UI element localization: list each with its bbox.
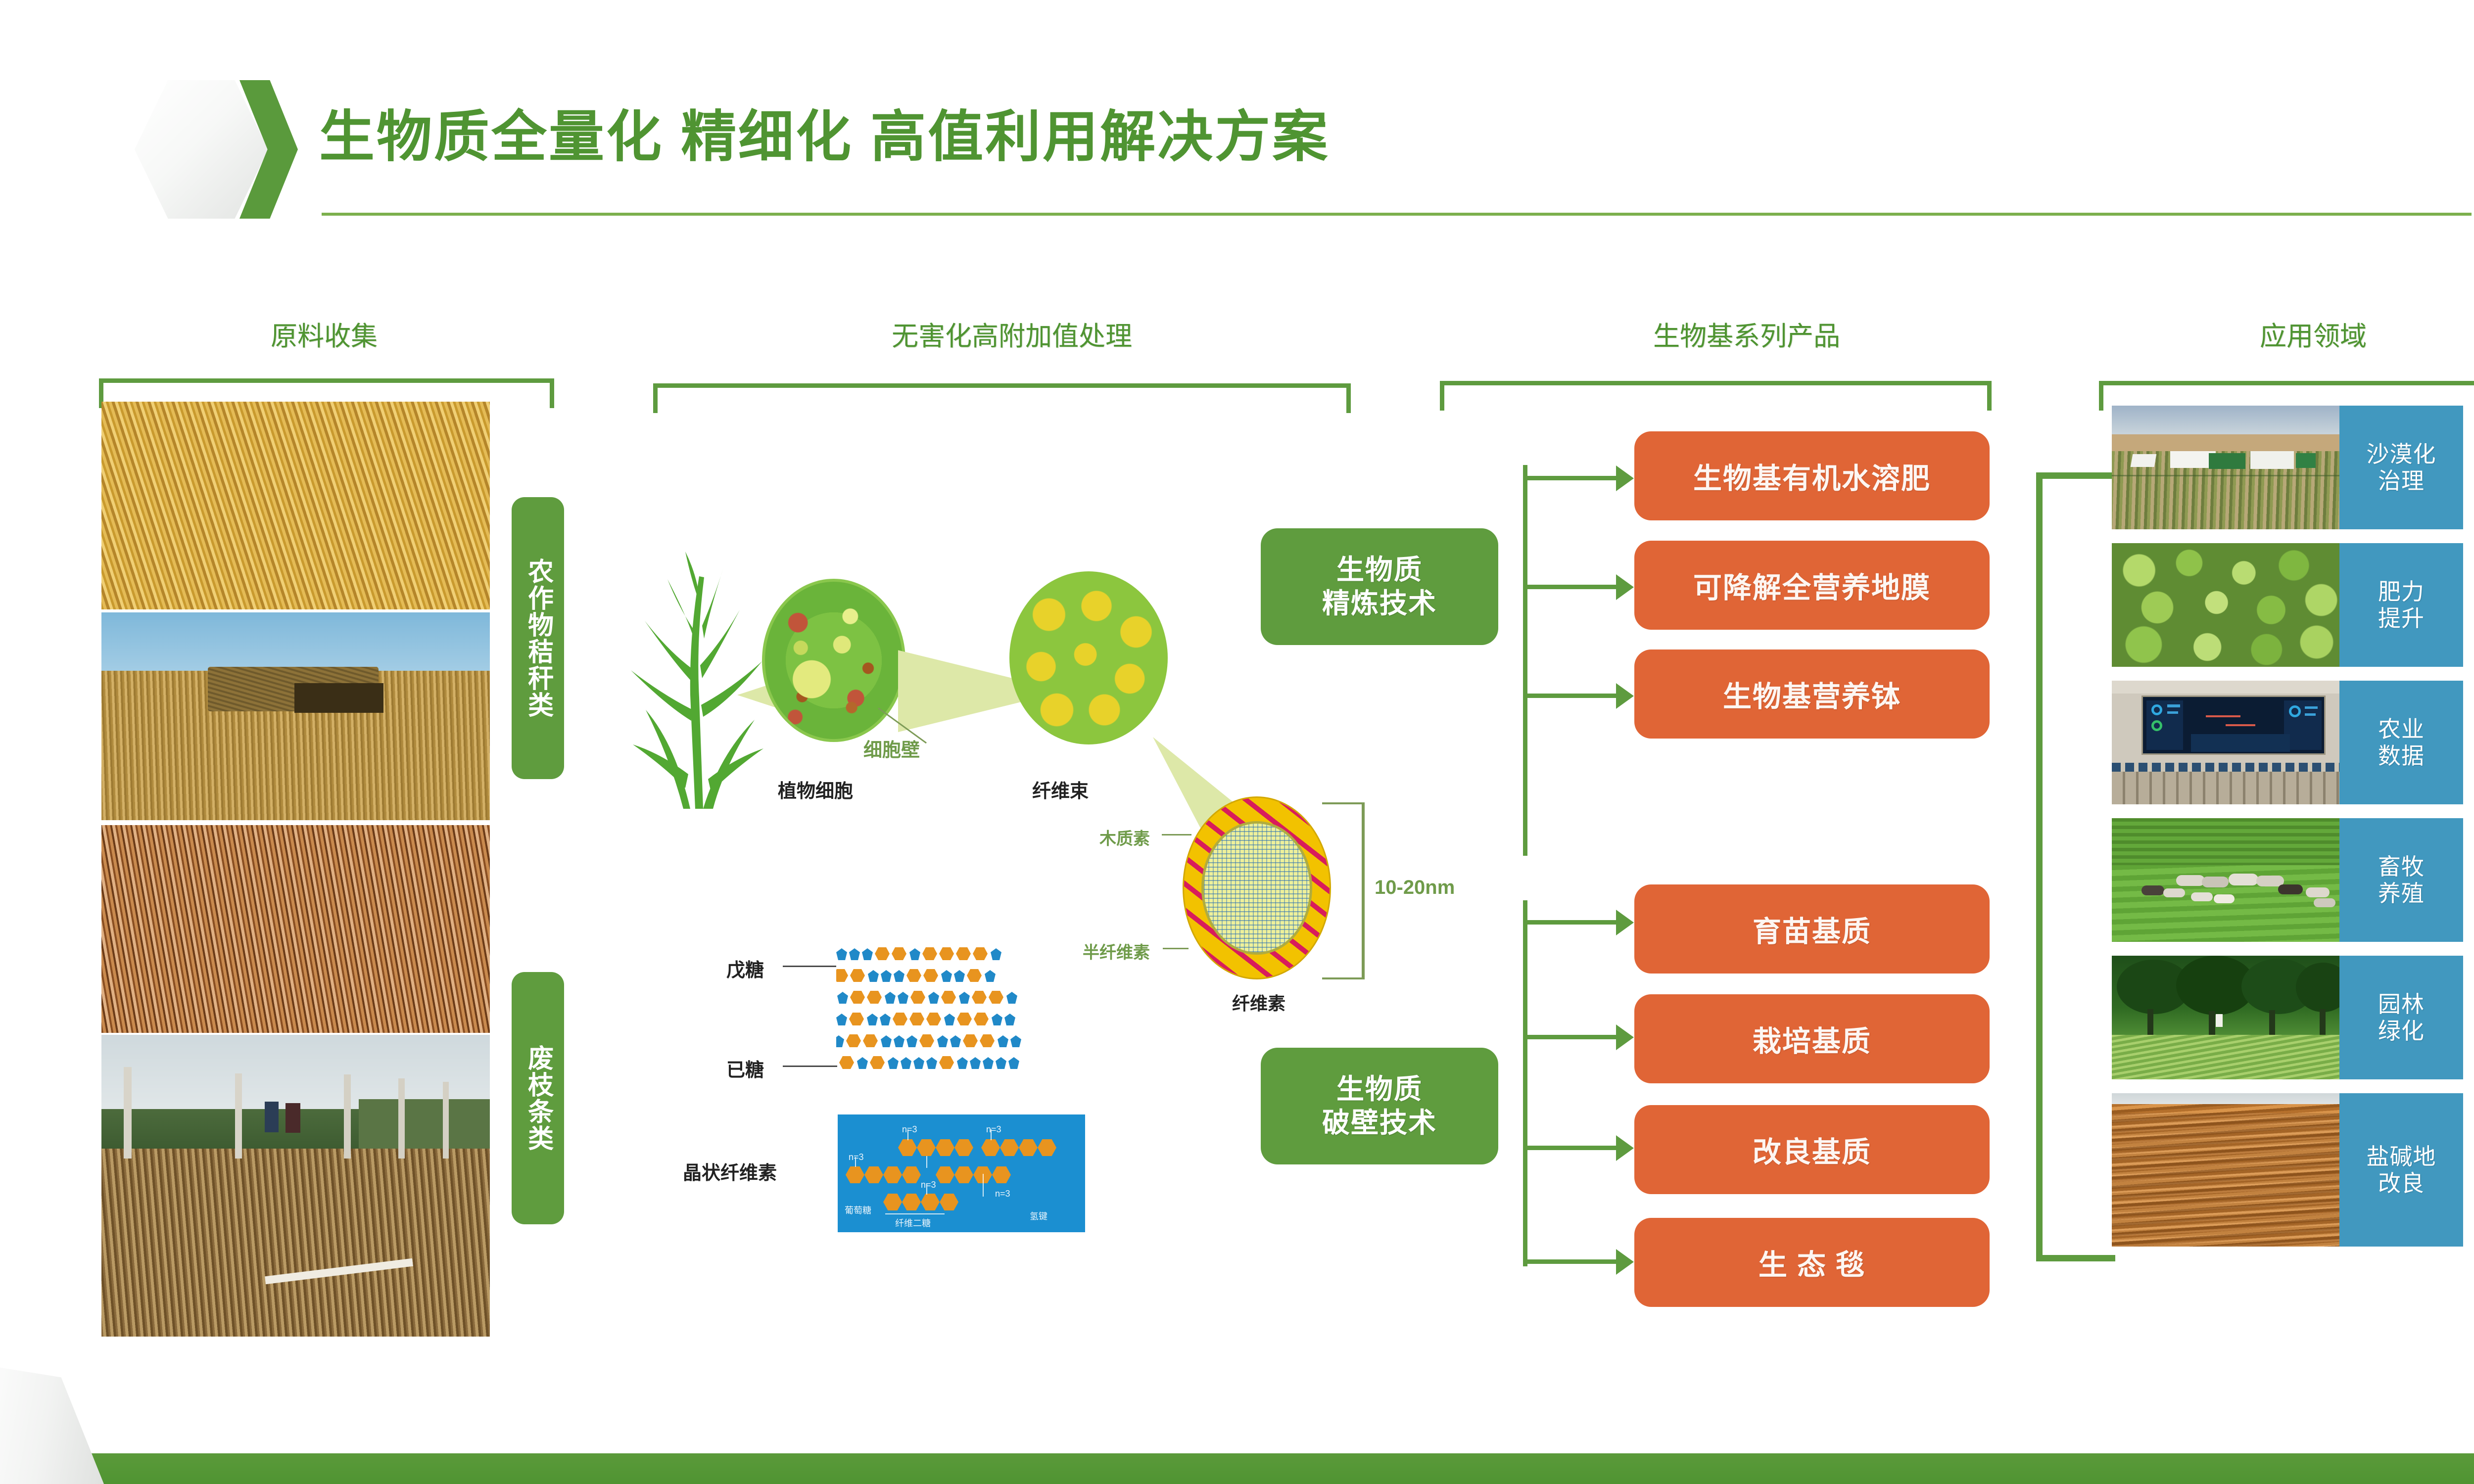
- category-pill-crop-straw-label: 农作物秸秆类: [524, 558, 551, 718]
- hemicellulose-leader-line: [1163, 948, 1189, 949]
- application-label-fertility-improvement[interactable]: 肥力 提升: [2339, 543, 2463, 667]
- zoom-beam-cell-fiber: [898, 643, 1022, 732]
- product-box-improvement-substrate[interactable]: 改良基质: [1634, 1105, 1990, 1194]
- straw-bale-field-photo: [101, 612, 490, 820]
- grass-plant-silhouette: [616, 547, 779, 809]
- arrow-refining-to-product-1: [1523, 476, 1617, 480]
- desert-plots-photo: [2112, 406, 2339, 529]
- dimension-tick-top: [1322, 802, 1365, 804]
- app-5-line1: 园林: [2378, 991, 2425, 1018]
- bracket-products: [1440, 381, 1992, 411]
- corn-stalk-field-photo: [101, 402, 490, 609]
- tech-box-refining[interactable]: 生物质 精炼技术: [1261, 528, 1498, 645]
- tech-box-breaking-line1: 生物质: [1336, 1072, 1423, 1106]
- app-1-line1: 沙漠化: [2367, 441, 2436, 467]
- label-hexose: 已糖: [726, 1055, 764, 1082]
- arrow-breaking-to-product-3: [1523, 1146, 1617, 1150]
- connector-spine-refining: [1523, 465, 1527, 856]
- fiber-bundle-diagram: [1009, 571, 1168, 744]
- lignin-leader-line: [1162, 834, 1191, 835]
- label-pentose: 戊糖: [726, 955, 764, 982]
- app-4-line1: 畜牧: [2378, 853, 2425, 880]
- category-pill-waste-branches[interactable]: 废枝条类: [512, 972, 564, 1224]
- app-1-line2: 治理: [2378, 467, 2425, 494]
- dry-branches-photo: [101, 825, 490, 1033]
- dimension-tick-bottom: [1322, 977, 1365, 979]
- page-title: 生物质全量化 精细化 高值利用解决方案: [319, 92, 1330, 172]
- label-fiber-bundle: 纤维束: [1032, 776, 1089, 803]
- app-3-line2: 数据: [2378, 742, 2425, 769]
- bracket-processing: [653, 383, 1351, 413]
- vineyard-pruning-photo: [101, 1035, 490, 1337]
- app-6-line1: 盐碱地: [2367, 1143, 2436, 1170]
- label-crystalline-cellulose: 晶状纤维素: [683, 1158, 777, 1185]
- label-cell-wall: 细胞壁: [863, 735, 920, 762]
- product-box-biobased-nutrient-pot[interactable]: 生物基营养钵: [1634, 649, 1990, 739]
- arrow-refining-to-product-2: [1523, 585, 1617, 589]
- label-fiber-dimension: 10-20nm: [1375, 877, 1455, 899]
- pentose-leader-line: [783, 966, 836, 967]
- product-label-5: 栽培基质: [1753, 1018, 1871, 1060]
- label-plant-cell: 植物细胞: [778, 776, 853, 803]
- product-box-ecological-blanket[interactable]: 生 态 毯: [1634, 1218, 1990, 1307]
- app-5-line2: 绿化: [2378, 1018, 2425, 1044]
- footer-white-accent: [0, 1363, 104, 1484]
- application-label-landscaping[interactable]: 园林 绿化: [2339, 956, 2463, 1079]
- crystalline-cellulose-panel: n=3 n=3 n=3 n=3 n=3 葡萄糖 纤维二糖 氢键: [838, 1114, 1085, 1232]
- connector-spine-breaking: [1523, 900, 1527, 1266]
- product-label-3: 生物基营养钵: [1723, 673, 1901, 715]
- section-title-products: 生物基系列产品: [1487, 314, 2006, 353]
- park-trees-photo: [2112, 956, 2339, 1079]
- arrow-refining-to-product-3: [1523, 694, 1617, 698]
- plant-cell-diagram: [762, 579, 905, 742]
- cellulose-core: [1201, 821, 1312, 955]
- app-4-line2: 养殖: [2378, 880, 2425, 907]
- section-title-applications: 应用领域: [2103, 314, 2474, 353]
- tech-box-breaking-line2: 破壁技术: [1322, 1106, 1437, 1140]
- section-title-raw-material: 原料收集: [171, 314, 477, 353]
- application-label-livestock-breeding[interactable]: 畜牧 养殖: [2339, 818, 2463, 942]
- bare-soil-photo: [2112, 1093, 2339, 1247]
- product-label-1: 生物基有机水溶肥: [1693, 455, 1931, 497]
- hexagon-chevron-logo: [135, 75, 303, 224]
- arrow-breaking-to-product-1: [1523, 920, 1617, 925]
- sugar-chain-diagram: [836, 947, 1094, 1096]
- product-box-cultivation-substrate[interactable]: 栽培基质: [1634, 994, 1990, 1083]
- application-label-agricultural-data[interactable]: 农业 数据: [2339, 681, 2463, 804]
- app-3-line1: 农业: [2378, 716, 2425, 742]
- product-box-seedling-substrate[interactable]: 育苗基质: [1634, 884, 1990, 974]
- title-divider: [322, 213, 2472, 216]
- application-label-desertification-control[interactable]: 沙漠化 治理: [2339, 406, 2463, 529]
- dimension-bar: [1362, 802, 1365, 979]
- category-pill-crop-straw[interactable]: 农作物秸秆类: [512, 497, 564, 779]
- product-box-water-soluble-fertilizer[interactable]: 生物基有机水溶肥: [1634, 431, 1990, 520]
- bracket-to-applications: [2036, 472, 2115, 1261]
- tech-box-cell-wall-breaking[interactable]: 生物质 破壁技术: [1261, 1048, 1498, 1164]
- infographic-canvas: 生物质全量化 精细化 高值利用解决方案 原料收集 无害化高附加值处理 生物基系列…: [0, 0, 2474, 1484]
- app-2-line1: 肥力: [2378, 578, 2425, 605]
- app-2-line2: 提升: [2378, 605, 2425, 632]
- product-label-4: 育苗基质: [1753, 908, 1871, 950]
- arrow-breaking-to-product-2: [1523, 1035, 1617, 1039]
- arrow-breaking-to-product-4: [1523, 1259, 1617, 1264]
- grazing-sheep-photo: [2112, 818, 2339, 942]
- footer-green-bar: [0, 1453, 2474, 1484]
- section-title-processing: 无害化高附加值处理: [653, 314, 1371, 353]
- product-label-6: 改良基质: [1753, 1129, 1871, 1170]
- product-box-degradable-mulch-film[interactable]: 可降解全营养地膜: [1634, 541, 1990, 630]
- category-pill-waste-branches-label: 废枝条类: [524, 1045, 551, 1152]
- cabbage-field-photo: [2112, 543, 2339, 667]
- label-cellulose: 纤维素: [1232, 989, 1285, 1015]
- label-lignin: 木质素: [1099, 825, 1150, 849]
- product-label-2: 可降解全营养地膜: [1693, 564, 1931, 606]
- hexose-leader-line: [783, 1066, 837, 1067]
- product-label-7: 生 态 毯: [1759, 1242, 1865, 1283]
- control-room-photo: [2112, 681, 2339, 804]
- tech-box-refining-line2: 精炼技术: [1322, 587, 1437, 620]
- application-label-saline-alkali-land[interactable]: 盐碱地 改良: [2339, 1093, 2463, 1247]
- app-6-line2: 改良: [2378, 1170, 2425, 1197]
- tech-box-refining-line1: 生物质: [1336, 553, 1423, 587]
